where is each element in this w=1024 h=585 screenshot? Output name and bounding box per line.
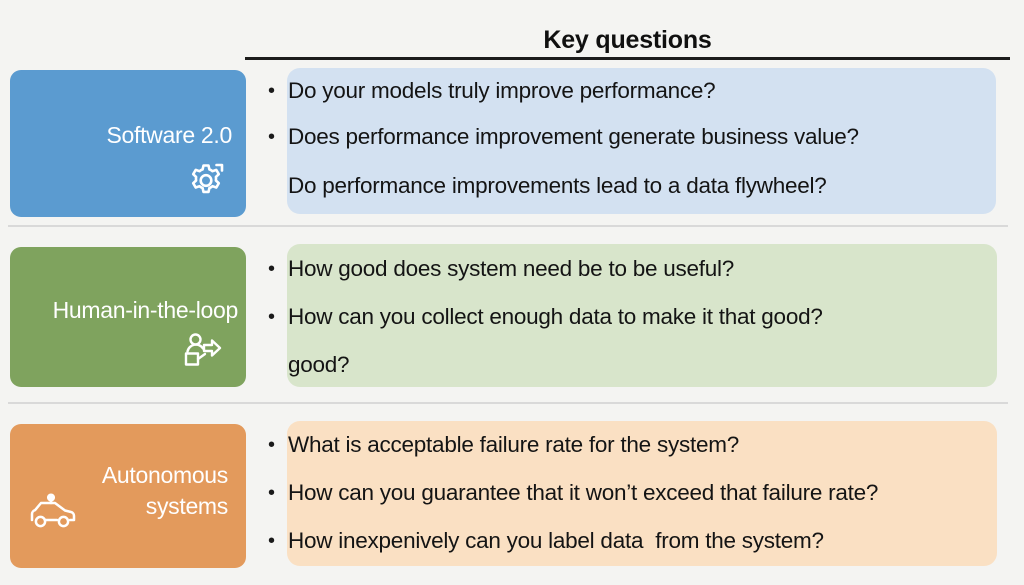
question-text: How good does system need be to be usefu… [288, 255, 734, 283]
category-card-software[interactable]: Software 2.0 [10, 70, 246, 217]
question-line: • How inexpenively can you label data fr… [262, 526, 1002, 556]
bullet-icon: • [262, 483, 288, 503]
question-text: Do performance improvements lead to a da… [288, 172, 827, 200]
question-text: How can you collect enough data to make … [288, 303, 823, 331]
question-line: good? [262, 350, 1002, 380]
self-driving-car-icon [28, 492, 84, 536]
category-card-autonomous-systems[interactable]: Autonomous systems [10, 424, 246, 568]
question-text: How inexpenively can you label data from… [288, 527, 824, 555]
bullet-icon: • [262, 435, 288, 455]
question-text: What is acceptable failure rate for the … [288, 431, 739, 459]
question-line: • What is acceptable failure rate for th… [262, 430, 1002, 460]
bullet-icon: • [262, 127, 288, 147]
bullet-icon: • [262, 531, 288, 551]
question-text: good? [288, 351, 349, 379]
category-card-label: Software 2.0 [106, 120, 232, 151]
category-card-human-in-the-loop[interactable]: Human-in-the-loop [10, 247, 246, 387]
question-text: Does performance improvement generate bu… [288, 123, 859, 151]
page-title: Key questions [245, 26, 1010, 55]
bullet-icon: • [262, 81, 288, 101]
person-handoff-icon [180, 331, 224, 371]
category-card-label: Autonomous systems [102, 460, 228, 522]
header-divider-rule [245, 57, 1010, 60]
bullet-icon: • [262, 259, 288, 279]
question-line: • How good does system need be to be use… [262, 254, 1002, 284]
question-line: • Do your models truly improve performan… [262, 76, 1002, 106]
question-line: Do performance improvements lead to a da… [262, 171, 1002, 201]
row-divider-1 [8, 225, 1008, 227]
question-text: How can you guarantee that it won’t exce… [288, 479, 878, 507]
gear-icon [184, 159, 228, 203]
question-text: Do your models truly improve performance… [288, 77, 715, 105]
question-line: • Does performance improvement generate … [262, 122, 1002, 152]
slide-canvas: Key questions Software 2.0 • Do your mod… [0, 0, 1024, 585]
question-line: • How can you collect enough data to mak… [262, 302, 1002, 332]
question-line: • How can you guarantee that it won’t ex… [262, 478, 1002, 508]
row-divider-2 [8, 402, 1008, 404]
category-card-label: Human-in-the-loop [53, 295, 238, 326]
bullet-icon: • [262, 307, 288, 327]
